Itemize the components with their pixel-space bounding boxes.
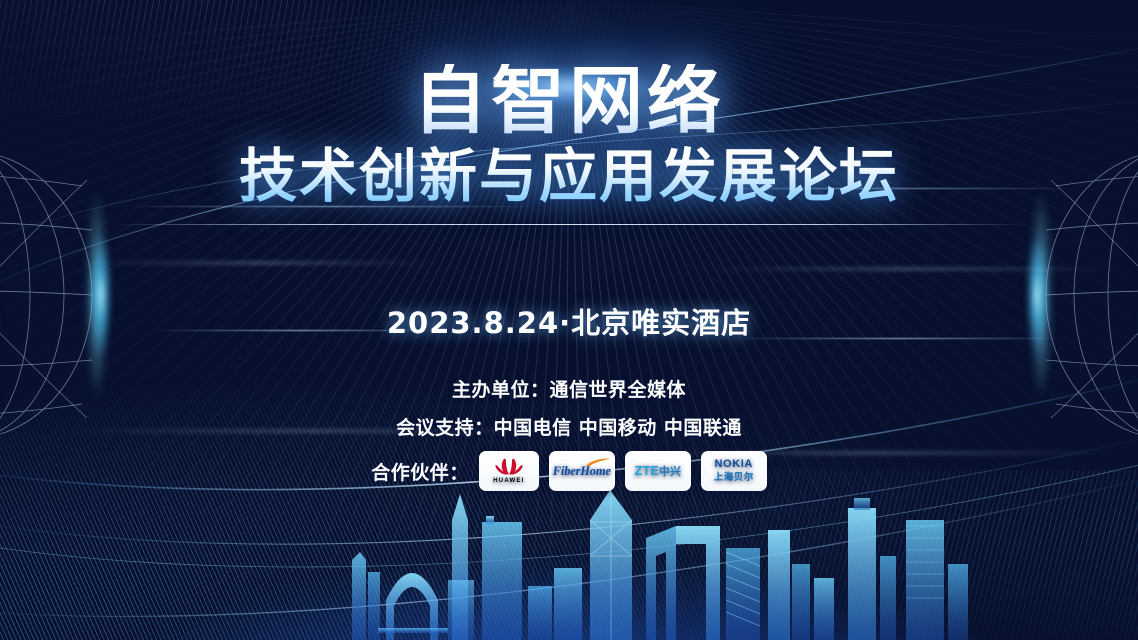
zte-wordmark: ZTE中兴 [634,464,681,478]
partners-row: 合作伙伴： HUAWEI [0,451,1138,491]
organizer-row: 主办单位： 通信世界全媒体 [0,375,1138,402]
fiberhome-logo[interactable]: FiberHome [549,451,615,491]
huawei-logo[interactable]: HUAWEI [479,451,539,491]
support-label: 会议支持： [396,413,494,440]
organizer-block: 主办单位： 通信世界全媒体 会议支持： 中国电信 中国移动 中国联通 合作伙伴： [0,375,1138,502]
title-subtitle: 技术创新与应用发展论坛 [0,146,1138,207]
date-venue: 2023.8.24·北京唯实酒店 [0,300,1138,342]
nokia-sub-wordmark: 上海贝尔 [714,473,754,483]
title-main: 自智网络 [0,64,1138,138]
poster-canvas: 自智网络 技术创新与应用发展论坛 2023.8.24·北京唯实酒店 主办单位： … [0,0,1138,640]
organizer-value: 通信世界全媒体 [550,375,687,402]
title-block: 自智网络 技术创新与应用发展论坛 [0,64,1138,207]
zte-logo[interactable]: ZTE中兴 [625,451,691,491]
partners-label: 合作伙伴： [371,458,469,485]
partner-logos: HUAWEI FiberHome ZTE中兴 [479,451,767,491]
nokia-logo[interactable]: NOKIA 上海贝尔 [701,451,767,491]
organizer-label: 主办单位： [452,375,550,402]
huawei-wordmark: HUAWEI [493,477,524,484]
poster-content: 自智网络 技术创新与应用发展论坛 2023.8.24·北京唯实酒店 主办单位： … [0,0,1138,640]
nokia-wordmark: NOKIA [715,459,753,470]
fiberhome-swoosh-icon [585,458,611,467]
title-divider [114,224,1024,225]
support-value: 中国电信 中国移动 中国联通 [494,413,742,440]
support-row: 会议支持： 中国电信 中国移动 中国联通 [0,413,1138,440]
huawei-petals-icon [494,458,524,475]
